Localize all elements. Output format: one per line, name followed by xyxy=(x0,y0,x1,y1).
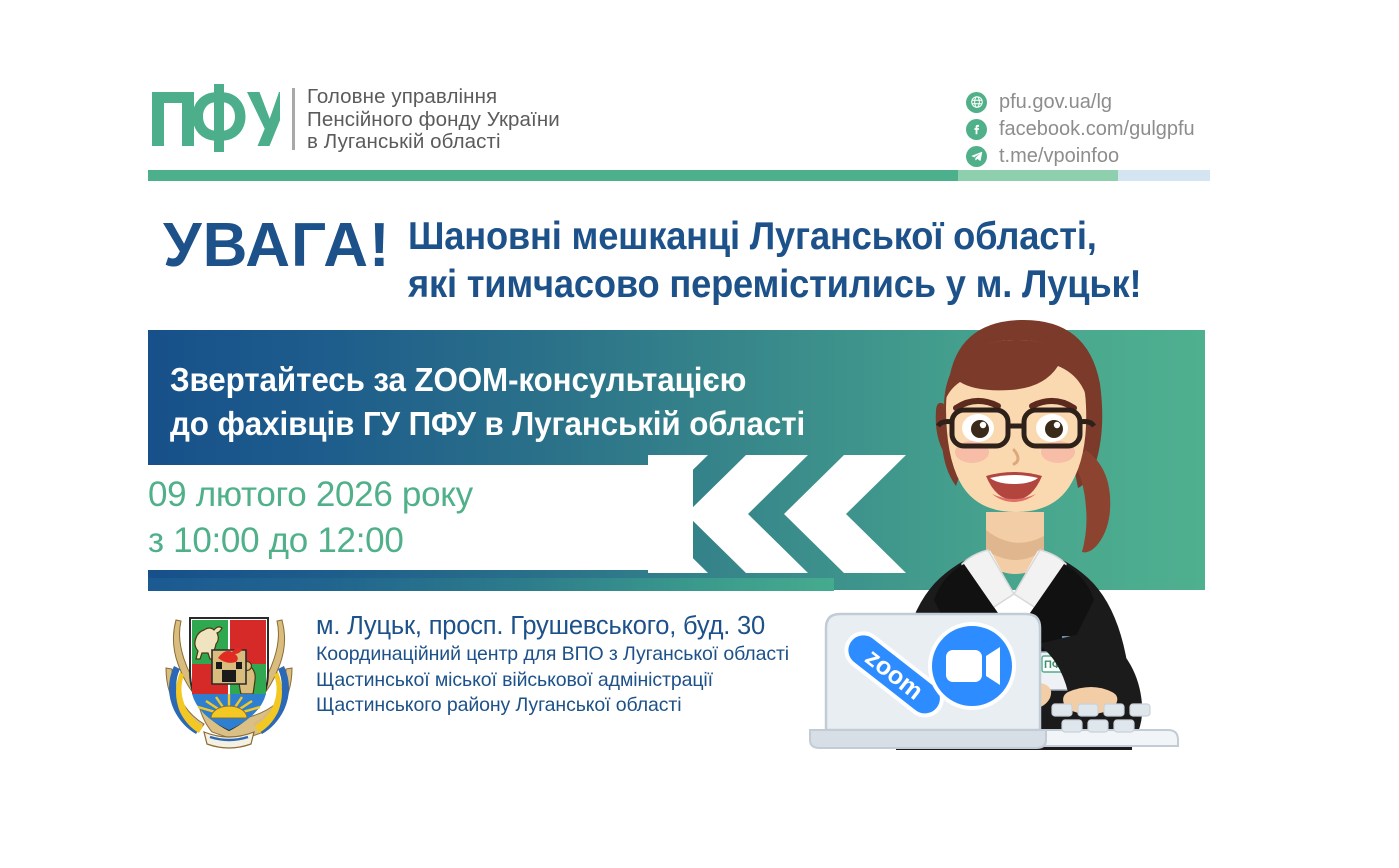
org-line-3: в Луганській області xyxy=(307,131,560,154)
band-title: Звертайтесь за ZOOM-консультацією до фах… xyxy=(170,358,805,446)
contact-website-label: pfu.gov.ua/lg xyxy=(999,91,1112,113)
globe-icon xyxy=(966,92,987,113)
header: Головне управління Пенсійного фонду Укра… xyxy=(148,82,1210,172)
logo-divider xyxy=(292,88,295,150)
divider-segment-light-green xyxy=(958,170,1118,181)
org-line-1: Головне управління xyxy=(307,86,560,109)
telegram-icon xyxy=(966,146,987,167)
venue-address-line-2: Щастинської міської військової адміністр… xyxy=(316,668,789,694)
pfu-logo-icon xyxy=(148,82,280,154)
band-title-line-1: Звертайтесь за ZOOM-консультацією xyxy=(170,358,805,402)
shchastia-coat-of-arms xyxy=(154,606,304,754)
female-consultant-illustration: ПФУ xyxy=(800,300,1230,750)
venue-address-line-1: Координаційний центр для ВПО з Лугансько… xyxy=(316,642,789,668)
contact-facebook[interactable]: facebook.com/gulgpfu xyxy=(966,117,1195,141)
band-footer-bar xyxy=(148,578,834,591)
zoom-video-icon xyxy=(930,624,1014,708)
organization-logo: Головне управління Пенсійного фонду Укра… xyxy=(148,82,560,154)
session-date: 09 лютого 2026 року xyxy=(148,472,473,518)
attention-word: УВАГА! xyxy=(163,215,391,277)
attention-line-1: Шановні мешканці Луганської області, xyxy=(408,213,1141,261)
header-divider-bar xyxy=(148,170,1210,181)
session-datetime: 09 лютого 2026 року з 10:00 до 12:00 xyxy=(148,472,473,564)
org-line-2: Пенсійного фонду України xyxy=(307,109,560,132)
divider-segment-green xyxy=(148,170,958,181)
venue-address: м. Луцьк, просп. Грушевського, буд. 30 К… xyxy=(316,610,789,719)
contact-facebook-label: facebook.com/gulgpfu xyxy=(999,118,1195,140)
session-time: з 10:00 до 12:00 xyxy=(148,518,473,564)
contact-telegram-label: t.me/vpoinfoo xyxy=(999,145,1119,167)
venue-section: м. Луцьк, просп. Грушевського, буд. 30 К… xyxy=(148,602,908,752)
contact-website[interactable]: pfu.gov.ua/lg xyxy=(966,90,1195,114)
contact-telegram[interactable]: t.me/vpoinfoo xyxy=(966,144,1195,168)
facebook-icon xyxy=(966,119,987,140)
divider-segment-light-blue xyxy=(1118,170,1210,181)
venue-address-main: м. Луцьк, просп. Грушевського, буд. 30 xyxy=(316,610,789,642)
contact-links: pfu.gov.ua/lg facebook.com/gulgpfu t.me/… xyxy=(966,90,1195,171)
attention-section: УВАГА! Шановні мешканці Луганської облас… xyxy=(163,213,1203,308)
poster-canvas: Головне управління Пенсійного фонду Укра… xyxy=(0,0,1399,868)
attention-message: Шановні мешканці Луганської області, які… xyxy=(408,213,1141,309)
band-title-line-2: до фахівців ГУ ПФУ в Луганській області xyxy=(170,402,805,446)
venue-address-line-3: Щастинського району Луганської області xyxy=(316,693,789,719)
organization-name: Головне управління Пенсійного фонду Укра… xyxy=(307,86,560,154)
